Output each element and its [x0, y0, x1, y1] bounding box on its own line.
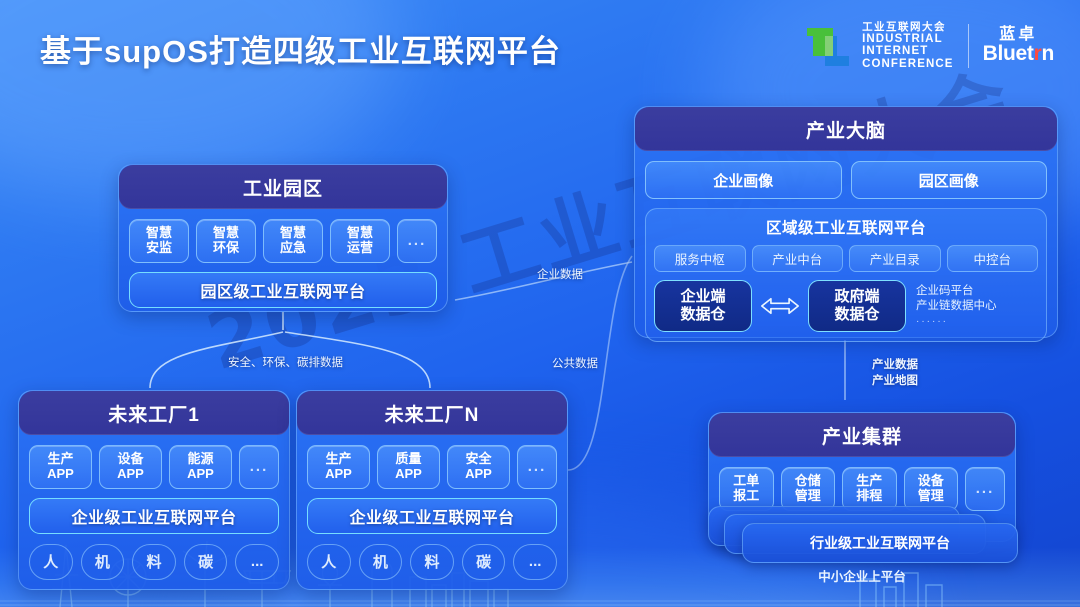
brain-portrait-row: 企业画像 园区画像	[645, 161, 1047, 199]
factory1-element-ring[interactable]: 料	[132, 544, 176, 580]
park-app-chip[interactable]: 智慧 运营	[330, 219, 390, 263]
factory1-more-chip[interactable]: ...	[239, 445, 279, 489]
chip-line2: APP	[325, 467, 352, 482]
cluster-app-chip[interactable]: 生产 排程	[842, 467, 897, 511]
chip-line1: 质量	[395, 452, 421, 467]
conference-name-en-2: INTERNET	[862, 45, 954, 57]
brand-divider	[968, 24, 969, 68]
chip-line2: APP	[117, 467, 144, 482]
chip-line2: APP	[395, 467, 422, 482]
bluetron-name-cn: 蓝卓	[983, 27, 1054, 44]
data-vault-row: 企业端 数据仓 政府端 数据仓 企业码平台 产业链数据中心 ······	[654, 280, 1038, 332]
factoryN-element-ring[interactable]: 碳	[462, 544, 506, 580]
iic-t-mark-icon	[803, 22, 853, 70]
vault-line1: 政府端	[834, 288, 879, 306]
factory1-element-ring[interactable]: 碳	[184, 544, 228, 580]
side-note-line1: 企业码平台	[916, 284, 997, 300]
park-app-chip[interactable]: 智慧 环保	[196, 219, 256, 263]
vault-line2: 数据仓	[834, 306, 879, 324]
card-industrial-park[interactable]: 工业园区 智慧 安监 智慧 环保 智慧 应急 智慧 运营 ... 园区级工业互联…	[118, 164, 448, 312]
cluster-title: 产业集群	[709, 413, 1015, 457]
regional-tag[interactable]: 中控台	[947, 245, 1039, 272]
chip-line1: 设备	[117, 452, 143, 467]
factory1-app-chip[interactable]: 能源 APP	[169, 445, 232, 489]
chip-line1: 智慧	[213, 226, 239, 241]
chip-line1: 能源	[187, 452, 213, 467]
enterprise-data-vault[interactable]: 企业端 数据仓	[654, 280, 752, 332]
factory1-element-ring[interactable]: ...	[235, 544, 279, 580]
factory1-element-rings: 人 机 料 碳 ...	[29, 544, 279, 580]
sme-onboarding-label: 中小企业上平台	[708, 566, 1016, 585]
brand-bar: 工业互联网大会 INDUSTRIAL INTERNET CONFERENCE 蓝…	[803, 22, 1054, 70]
brain-title: 产业大脑	[635, 107, 1057, 151]
conference-text: 工业互联网大会 INDUSTRIAL INTERNET CONFERENCE	[862, 22, 954, 70]
regional-side-note: 企业码平台 产业链数据中心 ······	[912, 284, 997, 329]
factoryN-platform-bar[interactable]: 企业级工业互联网平台	[307, 498, 557, 534]
cluster-app-chip[interactable]: 设备 管理	[904, 467, 959, 511]
page-title: 基于supOS打造四级工业互联网平台	[40, 26, 561, 71]
factory1-element-ring[interactable]: 人	[29, 544, 73, 580]
conference-name-en-3: CONFERENCE	[862, 58, 954, 70]
industry-platform-bar[interactable]: 行业级工业互联网平台	[742, 523, 1018, 563]
side-note-line2: 产业链数据中心	[916, 299, 997, 315]
chip-line2: APP	[465, 467, 492, 482]
side-note-line3: ······	[916, 315, 997, 329]
factory1-app-chip[interactable]: 设备 APP	[99, 445, 162, 489]
connector-label-enterprise: 企业数据	[537, 266, 583, 282]
factory1-element-ring[interactable]: 机	[81, 544, 125, 580]
connector-label-industry: 产业数据 产业地图	[872, 358, 918, 389]
park-app-chip[interactable]: 智慧 安监	[129, 219, 189, 263]
factoryN-more-chip[interactable]: ...	[517, 445, 557, 489]
cluster-app-chip[interactable]: 仓储 管理	[781, 467, 836, 511]
chip-line1: 智慧	[146, 226, 172, 241]
brain-portrait-park[interactable]: 园区画像	[851, 161, 1048, 199]
card-future-factory-1[interactable]: 未来工厂1 生产 APP 设备 APP 能源 APP ... 企业级工业互联网平…	[18, 390, 290, 590]
regional-tag[interactable]: 产业中台	[752, 245, 844, 272]
cluster-app-chips: 工单 报工 仓储 管理 生产 排程 设备 管理 ...	[719, 467, 1005, 511]
chip-line2: 管理	[918, 489, 944, 504]
chip-line2: 安监	[146, 241, 172, 256]
factoryN-element-rings: 人 机 料 碳 ...	[307, 544, 557, 580]
vault-line2: 数据仓	[680, 306, 725, 324]
regional-platform-section: 区域级工业互联网平台 服务中枢 产业中台 产业目录 中控台 企业端 数据仓 政府…	[645, 208, 1047, 342]
bluetron-logo: 蓝卓 Bluetrn	[983, 27, 1054, 66]
regional-tag-row: 服务中枢 产业中台 产业目录 中控台	[654, 245, 1038, 272]
industry-map-line2: 产业地图	[872, 374, 918, 390]
chip-line2: APP	[47, 467, 74, 482]
park-more-chip[interactable]: ...	[397, 219, 437, 263]
factory1-platform-bar[interactable]: 企业级工业互联网平台	[29, 498, 279, 534]
chip-line1: 生产	[856, 474, 882, 489]
chip-line2: 应急	[280, 241, 306, 256]
chip-line1: 智慧	[280, 226, 306, 241]
chip-line1: 工单	[733, 474, 759, 489]
factoryN-app-chips: 生产 APP 质量 APP 安全 APP ...	[307, 445, 557, 489]
bluetron-en-prefix: Bluet	[983, 42, 1034, 65]
factoryN-element-ring[interactable]: 机	[359, 544, 403, 580]
chip-line1: 仓储	[795, 474, 821, 489]
conference-name-cn: 工业互联网大会	[862, 22, 954, 33]
factoryN-element-ring[interactable]: ...	[513, 544, 557, 580]
bluetron-name-en: Bluetrn	[983, 43, 1054, 65]
park-title: 工业园区	[119, 165, 447, 209]
factory1-app-chips: 生产 APP 设备 APP 能源 APP ...	[29, 445, 279, 489]
cluster-platform-stack: 行业级工业互联网平台	[708, 506, 1016, 564]
factoryN-element-ring[interactable]: 人	[307, 544, 351, 580]
factoryN-title: 未来工厂N	[297, 391, 567, 435]
chip-line2: 报工	[733, 489, 759, 504]
factory1-app-chip[interactable]: 生产 APP	[29, 445, 92, 489]
vault-line1: 企业端	[680, 288, 725, 306]
regional-tag[interactable]: 服务中枢	[654, 245, 746, 272]
government-data-vault[interactable]: 政府端 数据仓	[808, 280, 906, 332]
card-industry-brain[interactable]: 产业大脑 企业画像 园区画像 区域级工业互联网平台 服务中枢 产业中台 产业目录…	[634, 106, 1058, 338]
chip-line1: 生产	[47, 452, 73, 467]
park-app-chip[interactable]: 智慧 应急	[263, 219, 323, 263]
chip-line2: 运营	[347, 241, 373, 256]
chip-line2: 管理	[795, 489, 821, 504]
cluster-more-chip[interactable]: ...	[965, 467, 1005, 511]
factoryN-element-ring[interactable]: 料	[410, 544, 454, 580]
card-future-factory-n[interactable]: 未来工厂N 生产 APP 质量 APP 安全 APP ... 企业级工业互联网平…	[296, 390, 568, 590]
chip-line2: APP	[187, 467, 214, 482]
connector-label-public: 公共数据	[552, 355, 598, 371]
regional-platform-title: 区域级工业互联网平台	[654, 216, 1038, 238]
brain-portrait-enterprise[interactable]: 企业画像	[645, 161, 842, 199]
cluster-app-chip[interactable]: 工单 报工	[719, 467, 774, 511]
connector-label-safety: 安全、环保、碳排数据	[228, 354, 343, 370]
chip-line2: 环保	[213, 241, 239, 256]
bluetron-en-suffix: n	[1041, 42, 1054, 65]
conference-name-en-1: INDUSTRIAL	[862, 33, 954, 45]
chip-line2: 排程	[856, 489, 882, 504]
chip-line1: 安全	[465, 452, 491, 467]
industry-data-line1: 产业数据	[872, 358, 918, 374]
factoryN-app-chip[interactable]: 安全 APP	[447, 445, 510, 489]
chip-line1: 设备	[918, 474, 944, 489]
chip-line1: 生产	[325, 452, 351, 467]
park-app-chips: 智慧 安监 智慧 环保 智慧 应急 智慧 运营 ...	[129, 219, 437, 263]
factoryN-app-chip[interactable]: 质量 APP	[377, 445, 440, 489]
chip-line1: 智慧	[347, 226, 373, 241]
park-platform-bar[interactable]: 园区级工业互联网平台	[129, 272, 437, 308]
factoryN-app-chip[interactable]: 生产 APP	[307, 445, 370, 489]
conference-logo: 工业互联网大会 INDUSTRIAL INTERNET CONFERENCE	[803, 22, 954, 70]
double-arrow-icon	[758, 294, 802, 318]
factory1-title: 未来工厂1	[19, 391, 289, 435]
regional-tag[interactable]: 产业目录	[849, 245, 941, 272]
